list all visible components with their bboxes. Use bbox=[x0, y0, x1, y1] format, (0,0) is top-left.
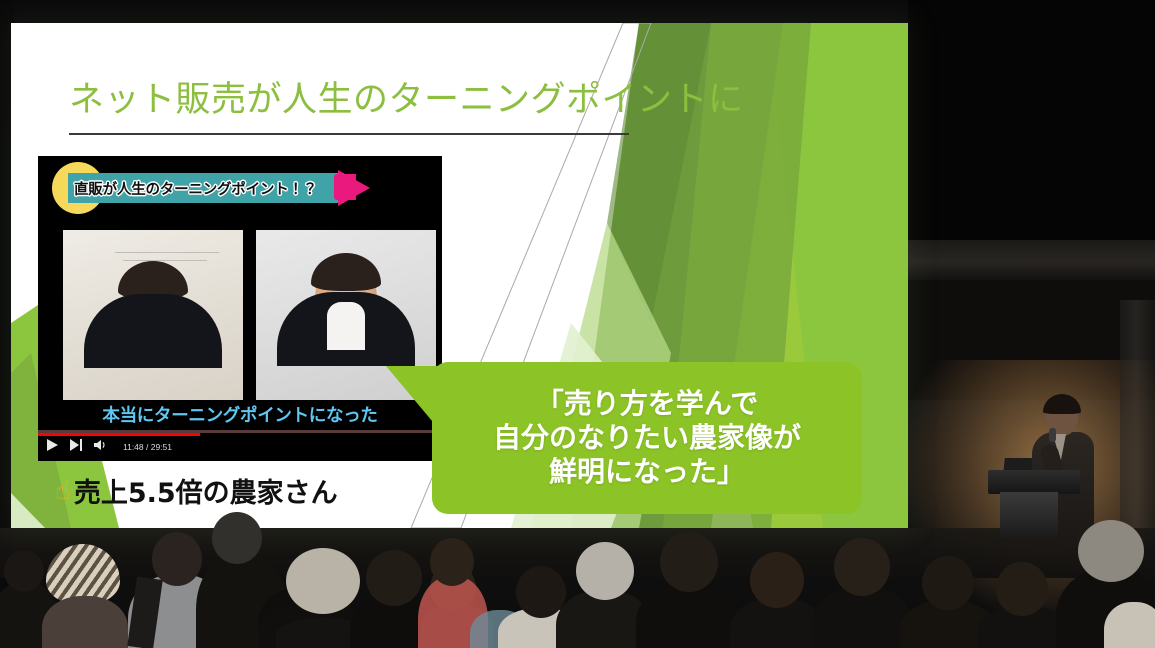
video-timestamp: 11:48 / 29:51 bbox=[123, 442, 172, 452]
play-icon[interactable] bbox=[46, 438, 58, 456]
video-progress-fill bbox=[38, 433, 200, 436]
quote-line-3: 鮮明になった」 bbox=[549, 455, 745, 489]
title-underline bbox=[69, 133, 629, 135]
wall-beam bbox=[908, 240, 1155, 280]
video-caption-text: 売上5.5倍の農家さん bbox=[74, 471, 338, 510]
volume-icon[interactable] bbox=[94, 438, 107, 456]
quote-bubble: 「売り方を学んで 自分のなりたい農家像が 鮮明になった」 bbox=[432, 362, 862, 514]
participant-right-body bbox=[277, 292, 415, 366]
microphone-icon bbox=[1049, 428, 1056, 442]
video-banner-text: 直販が人生のターニングポイント！？ bbox=[74, 174, 354, 202]
projected-slide: ネット販売が人生のターニングポイントに 直販が人生のターニングポイント！？ bbox=[11, 23, 908, 528]
video-banner: 直販が人生のターニングポイント！？ bbox=[38, 156, 442, 222]
video-call-stage bbox=[38, 222, 442, 408]
video-subtitle: 本当にターニングポイントになった bbox=[38, 402, 442, 427]
video-control-bar[interactable]: 11:48 / 29:51 bbox=[38, 427, 442, 461]
video-player[interactable]: 直販が人生のターニングポイント！？ bbox=[38, 156, 442, 461]
podium bbox=[988, 470, 1080, 494]
quote-line-2: 自分のなりたい農家像が bbox=[493, 421, 801, 455]
video-participant-left bbox=[63, 230, 243, 400]
next-track-icon[interactable] bbox=[70, 438, 82, 456]
quote-line-1: 「売り方を学んで bbox=[536, 387, 759, 421]
screenshot-root: ネット販売が人生のターニングポイントに 直販が人生のターニングポイント！？ bbox=[0, 0, 1155, 648]
video-caption: ☝ 売上5.5倍の農家さん bbox=[55, 471, 338, 510]
pointing-hand-icon: ☝ bbox=[55, 478, 71, 504]
page-title: ネット販売が人生のターニングポイントに bbox=[69, 71, 744, 122]
wall-dark-upper bbox=[908, 0, 1155, 240]
wall-below-screen bbox=[0, 528, 1155, 578]
participant-left-body bbox=[84, 294, 222, 368]
podium-base bbox=[1000, 492, 1058, 538]
wall-column-right bbox=[1120, 300, 1155, 560]
video-progress-track[interactable] bbox=[38, 430, 442, 433]
